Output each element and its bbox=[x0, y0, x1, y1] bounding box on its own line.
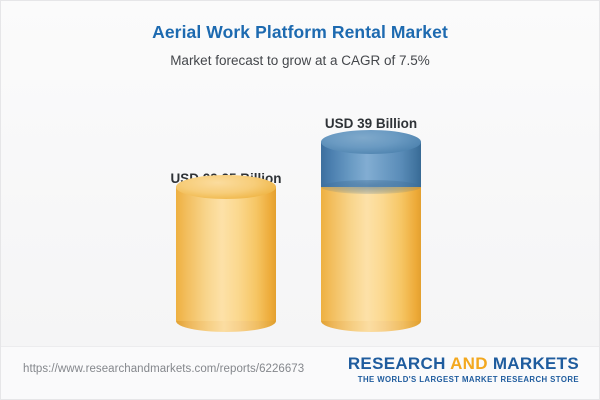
bar-value-label-2030: USD 39 Billion bbox=[291, 116, 451, 131]
brand-logo-research: RESEARCH bbox=[348, 354, 446, 373]
page-title: Aerial Work Platform Rental Market bbox=[1, 22, 599, 43]
cylinder-2026 bbox=[176, 187, 276, 321]
cylinder-2030 bbox=[321, 142, 421, 321]
brand-logo-tagline: THE WORLD'S LARGEST MARKET RESEARCH STOR… bbox=[348, 375, 579, 384]
cylinder-segment-gold-2026 bbox=[176, 187, 276, 321]
cylinder-segment-seam-2030 bbox=[321, 180, 421, 194]
cylinder-wall-gold-2030 bbox=[321, 187, 421, 321]
cylinder-segment-gold-2030 bbox=[321, 187, 421, 321]
bar-group-2030: USD 39 Billion 2030 bbox=[291, 96, 451, 346]
chart-plot-area: USD 29.25 Billion 2026 USD 39 Billion bbox=[1, 81, 599, 346]
brand-logo-wordmark: RESEARCH AND MARKETS bbox=[348, 355, 579, 373]
page-subtitle: Market forecast to grow at a CAGR of 7.5… bbox=[1, 53, 599, 68]
cylinder-top-cap-2026 bbox=[176, 175, 276, 199]
cylinder-top-cap-2030 bbox=[321, 130, 421, 154]
report-url[interactable]: https://www.researchandmarkets.com/repor… bbox=[23, 363, 304, 375]
brand-logo-markets: MARKETS bbox=[493, 354, 579, 373]
brand-logo[interactable]: RESEARCH AND MARKETS THE WORLD'S LARGEST… bbox=[348, 355, 579, 384]
cylinder-wall-2026 bbox=[176, 187, 276, 321]
brand-logo-and: AND bbox=[450, 354, 488, 373]
infographic-card: Aerial Work Platform Rental Market Marke… bbox=[0, 0, 600, 400]
footer: https://www.researchandmarkets.com/repor… bbox=[1, 346, 599, 399]
bar-group-2026: USD 29.25 Billion 2026 bbox=[146, 96, 306, 346]
